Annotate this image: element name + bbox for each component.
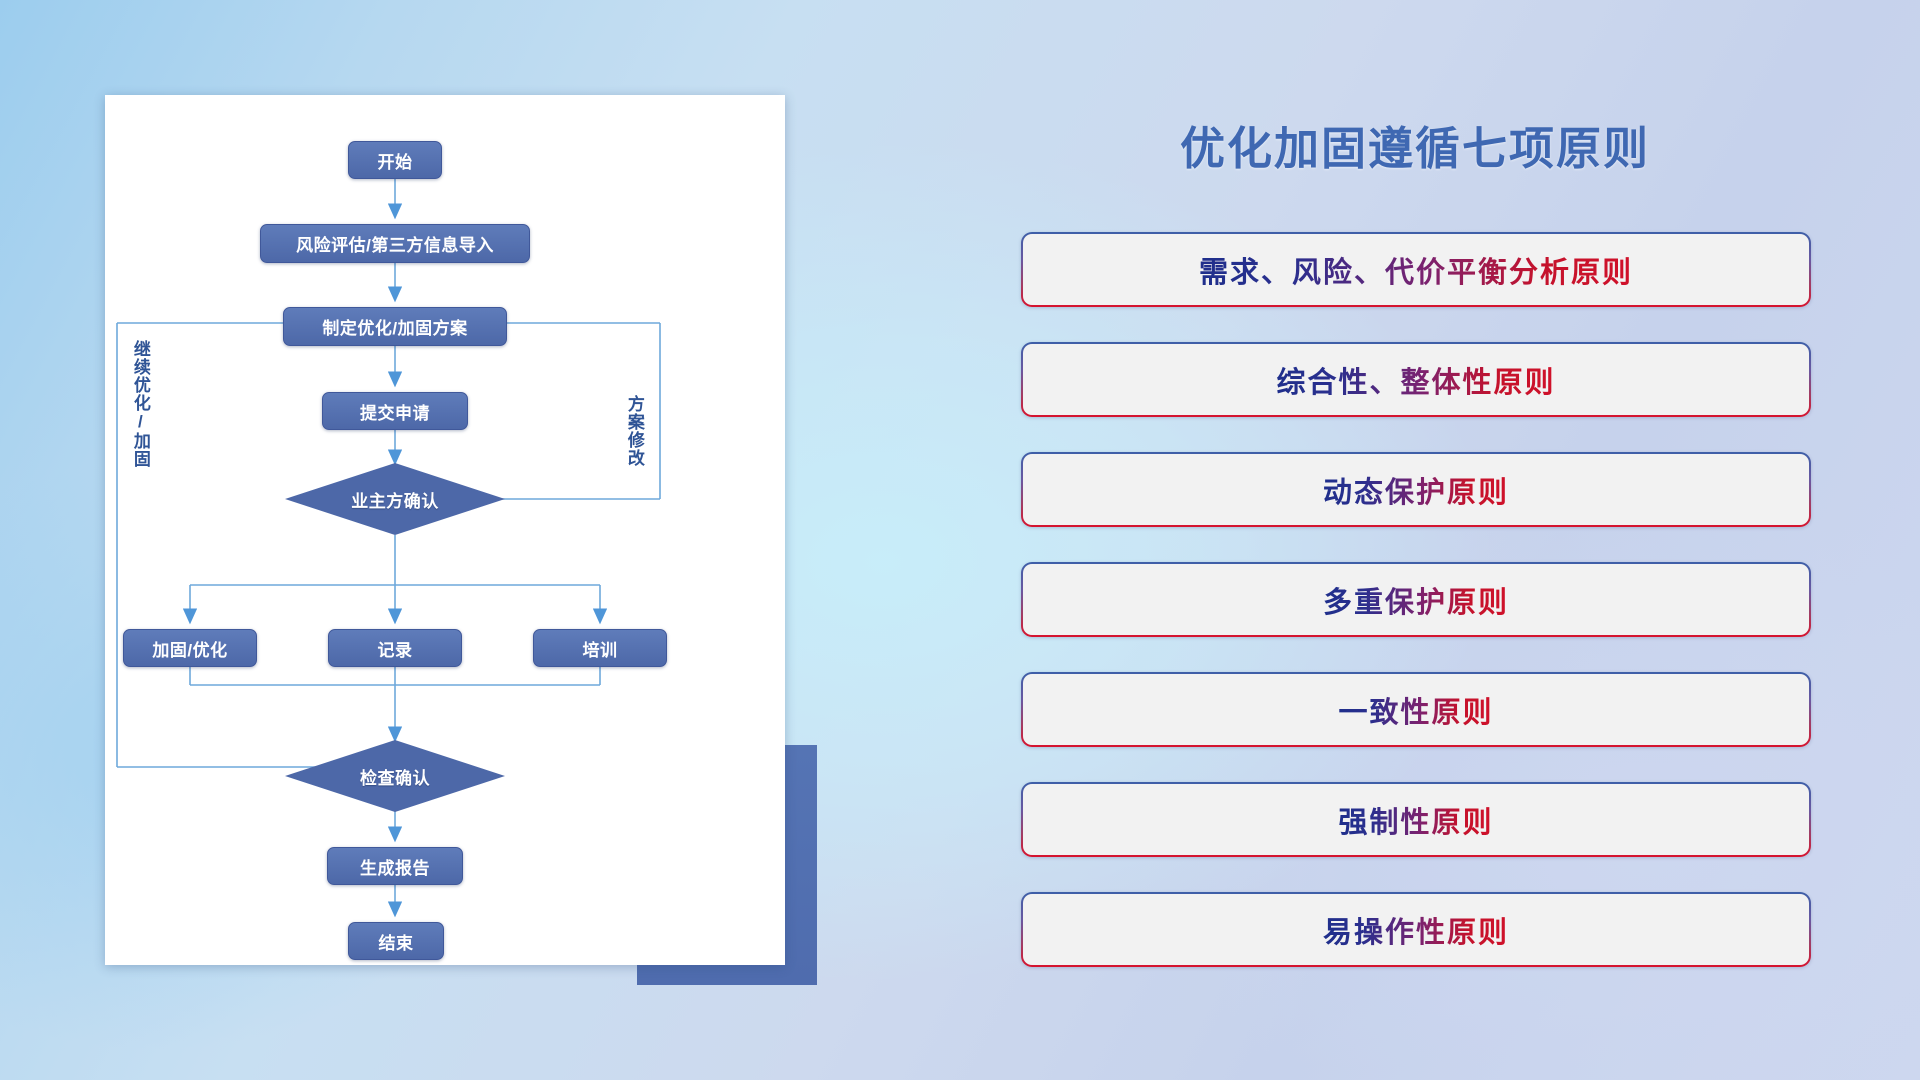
principle-item-2[interactable]: 综合性、整体性原则 [1021, 342, 1811, 417]
flow-node-reinforce-label: 加固/优化 [152, 636, 227, 661]
flow-node-risk-assessment[interactable]: 风险评估/第三方信息导入 [260, 224, 530, 263]
flow-node-reinforce[interactable]: 加固/优化 [123, 629, 257, 667]
flowchart-region: 开始 风险评估/第三方信息导入 制定优化/加固方案 提交申请 业主方确认 加固/… [0, 0, 820, 1080]
edge-label-plan-revision: 方案修改 [625, 395, 643, 467]
principle-item-3-label: 动态保护原则 [1323, 469, 1509, 511]
flow-node-training-label: 培训 [583, 636, 618, 661]
principle-item-4-label: 多重保护原则 [1323, 579, 1509, 621]
flow-node-submit-label: 提交申请 [360, 399, 430, 424]
principle-item-7-inner: 易操作性原则 [1023, 894, 1809, 965]
flow-node-end-label: 结束 [379, 929, 414, 954]
principle-item-6[interactable]: 强制性原则 [1021, 782, 1811, 857]
flow-node-record-label: 记录 [378, 636, 413, 661]
edge-label-continue-optimize: 继续优化/加固 [131, 340, 149, 468]
flow-node-owner-confirm[interactable]: 业主方确认 [285, 463, 505, 535]
principle-item-6-inner: 强制性原则 [1023, 784, 1809, 855]
principle-item-3-inner: 动态保护原则 [1023, 454, 1809, 525]
flow-node-report[interactable]: 生成报告 [327, 847, 463, 885]
principle-item-5[interactable]: 一致性原则 [1021, 672, 1811, 747]
flow-node-plan[interactable]: 制定优化/加固方案 [283, 307, 507, 346]
principle-item-4[interactable]: 多重保护原则 [1021, 562, 1811, 637]
flowchart-canvas: 开始 风险评估/第三方信息导入 制定优化/加固方案 提交申请 业主方确认 加固/… [105, 95, 785, 965]
flow-node-owner-confirm-label: 业主方确认 [285, 463, 505, 535]
flow-node-start-label: 开始 [378, 148, 413, 173]
page-title: 优化加固遵循七项原则 [1020, 112, 1810, 177]
principle-item-2-inner: 综合性、整体性原则 [1023, 344, 1809, 415]
principle-item-4-inner: 多重保护原则 [1023, 564, 1809, 635]
flow-node-risk-assessment-label: 风险评估/第三方信息导入 [296, 231, 494, 256]
principle-item-3[interactable]: 动态保护原则 [1021, 452, 1811, 527]
principles-list: 需求、风险、代价平衡分析原则 综合性、整体性原则 动态保护原则 多重保护原则 [1021, 232, 1811, 1002]
principle-item-1-label: 需求、风险、代价平衡分析原则 [1199, 249, 1633, 291]
principle-item-5-inner: 一致性原则 [1023, 674, 1809, 745]
flow-node-submit[interactable]: 提交申请 [322, 392, 468, 430]
principle-item-5-label: 一致性原则 [1338, 689, 1493, 731]
principle-item-6-label: 强制性原则 [1338, 799, 1493, 841]
flow-node-record[interactable]: 记录 [328, 629, 462, 667]
flow-node-check-confirm-label: 检查确认 [285, 740, 505, 812]
flow-node-plan-label: 制定优化/加固方案 [322, 314, 467, 339]
principles-region: 优化加固遵循七项原则 需求、风险、代价平衡分析原则 综合性、整体性原则 动态保护… [1020, 0, 1920, 1080]
flow-node-training[interactable]: 培训 [533, 629, 667, 667]
flowchart-card: 开始 风险评估/第三方信息导入 制定优化/加固方案 提交申请 业主方确认 加固/… [105, 95, 785, 965]
flow-node-start[interactable]: 开始 [348, 141, 442, 179]
principle-item-2-label: 综合性、整体性原则 [1276, 359, 1555, 401]
principle-item-1[interactable]: 需求、风险、代价平衡分析原则 [1021, 232, 1811, 307]
principle-item-7-label: 易操作性原则 [1323, 909, 1509, 951]
slide-canvas: 开始 风险评估/第三方信息导入 制定优化/加固方案 提交申请 业主方确认 加固/… [0, 0, 1920, 1080]
flow-node-end[interactable]: 结束 [348, 922, 444, 960]
flow-node-report-label: 生成报告 [360, 854, 430, 879]
flow-node-check-confirm[interactable]: 检查确认 [285, 740, 505, 812]
principle-item-7[interactable]: 易操作性原则 [1021, 892, 1811, 967]
principle-item-1-inner: 需求、风险、代价平衡分析原则 [1023, 234, 1809, 305]
